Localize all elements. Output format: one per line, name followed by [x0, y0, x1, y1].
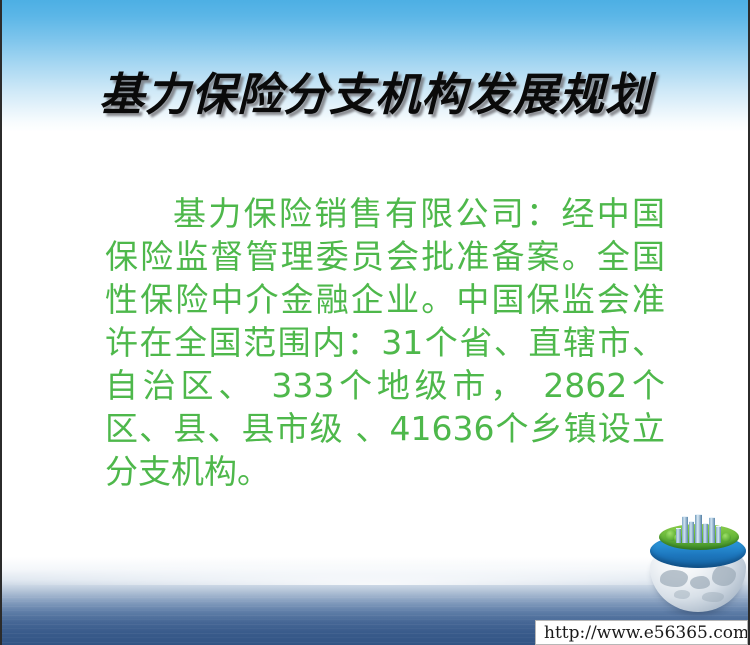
presentation-slide: 基力保险分支机构发展规划 基力保险销售有限公司：经中国保险监督管理委员会批准备案… — [0, 0, 750, 645]
continent-shape — [660, 570, 688, 587]
building-icon — [703, 523, 708, 543]
continent-shape — [712, 566, 736, 586]
earth-globe-graphic — [650, 516, 748, 616]
building-icon — [676, 528, 681, 543]
slide-body-paragraph: 基力保险销售有限公司：经中国保险监督管理委员会批准备案。全国性保险中介金融企业。… — [105, 192, 665, 493]
continent-shape — [674, 590, 690, 599]
building-icon — [689, 521, 694, 543]
building-icon — [716, 526, 721, 543]
slide-title: 基力保险分支机构发展规划 — [2, 58, 748, 123]
building-icon — [682, 516, 688, 543]
continent-shape — [702, 592, 724, 602]
building-icon — [695, 514, 702, 543]
watermark-url: http://www.e56365.com — [535, 620, 748, 645]
tree-icon — [722, 533, 731, 542]
building-icon — [709, 517, 715, 543]
continent-shape — [690, 576, 710, 589]
